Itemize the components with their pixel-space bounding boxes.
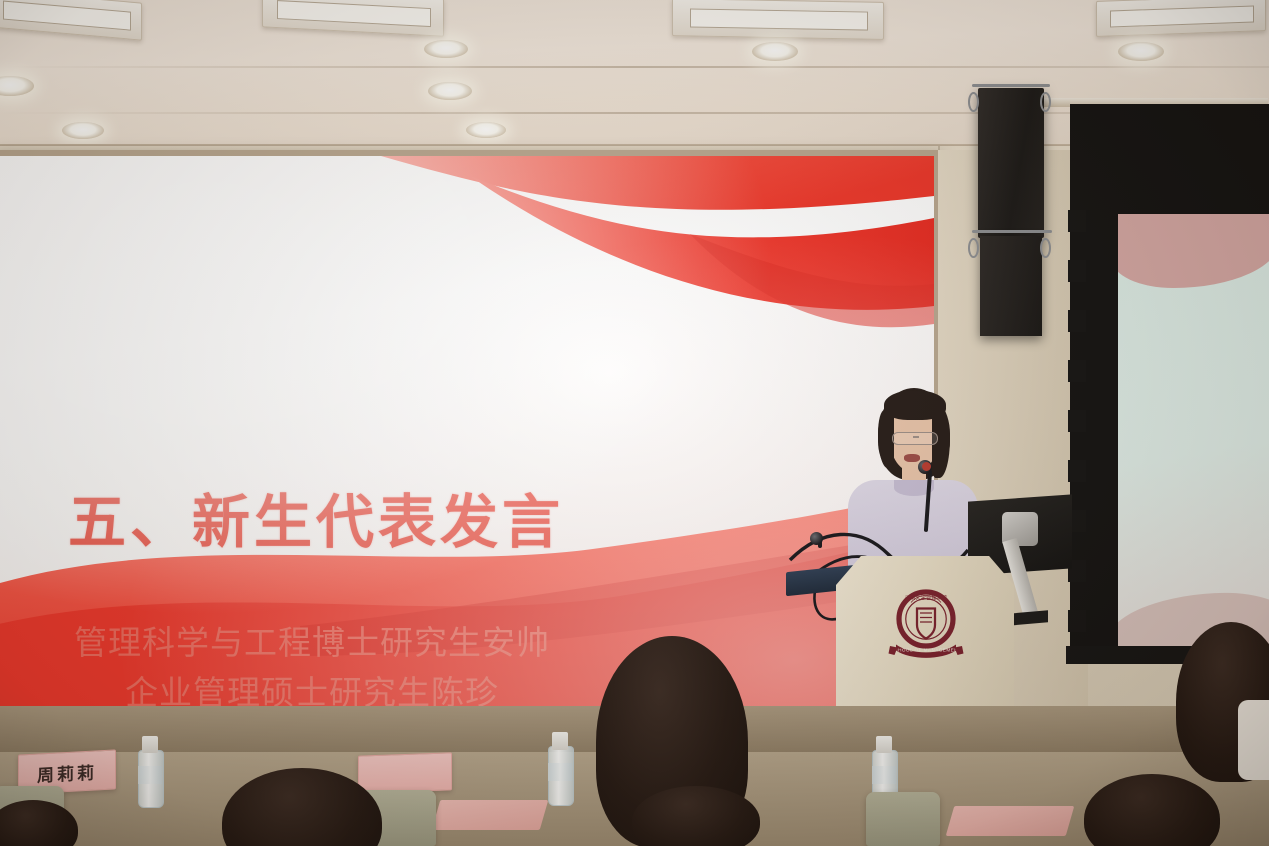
eyeglasses bbox=[892, 432, 938, 445]
name-placard-text: 周莉莉 bbox=[37, 758, 97, 786]
ceiling-downlight bbox=[466, 122, 506, 138]
ceiling-downlight bbox=[1118, 42, 1164, 61]
ceiling-downlight bbox=[752, 42, 798, 61]
ceiling-vent bbox=[262, 0, 444, 37]
projection-screen: 五、新生代表发言 管理科学与工程博士研究生安帅 企业管理硕士研究生陈珍 bbox=[0, 156, 934, 716]
photo-scene: 五、新生代表发言 管理科学与工程博士研究生安帅 企业管理硕士研究生陈珍 bbox=[0, 0, 1269, 846]
slide-subtitle-line-1: 管理科学与工程博士研究生安帅 bbox=[52, 618, 572, 668]
papers-on-desk bbox=[432, 800, 549, 830]
ceiling-vent bbox=[672, 0, 884, 40]
ceiling-downlight bbox=[424, 40, 468, 58]
slide-title: 五、新生代表发言 bbox=[68, 492, 564, 555]
emblem-ribbon-text: SCHOOL OF MANAGEMENT bbox=[891, 647, 962, 652]
name-placard bbox=[358, 752, 452, 793]
papers-on-desk bbox=[946, 806, 1075, 836]
ceiling-downlight bbox=[62, 122, 104, 139]
line-array-speaker bbox=[978, 88, 1044, 238]
school-emblem: 河南大学管理学院 SCHOOL OF MANAGEMENT bbox=[888, 586, 964, 664]
ceiling-vent bbox=[1096, 0, 1266, 37]
microphone-windscreen bbox=[922, 462, 931, 471]
audience-shoulder bbox=[1238, 700, 1269, 780]
ceiling-downlight bbox=[0, 76, 34, 96]
chair bbox=[866, 792, 940, 846]
ceiling-downlight bbox=[428, 82, 472, 100]
microphone-head-2 bbox=[810, 532, 823, 545]
ceiling-vent bbox=[0, 0, 142, 41]
line-array-speaker-lower bbox=[980, 236, 1042, 336]
wall-acoustic-slats bbox=[1068, 150, 1086, 670]
secondary-projection-screen bbox=[1118, 214, 1269, 646]
slide-subtitle: 管理科学与工程博士研究生安帅 企业管理硕士研究生陈珍 bbox=[52, 618, 572, 716]
water-bottle bbox=[138, 736, 162, 808]
water-bottle bbox=[548, 732, 572, 806]
